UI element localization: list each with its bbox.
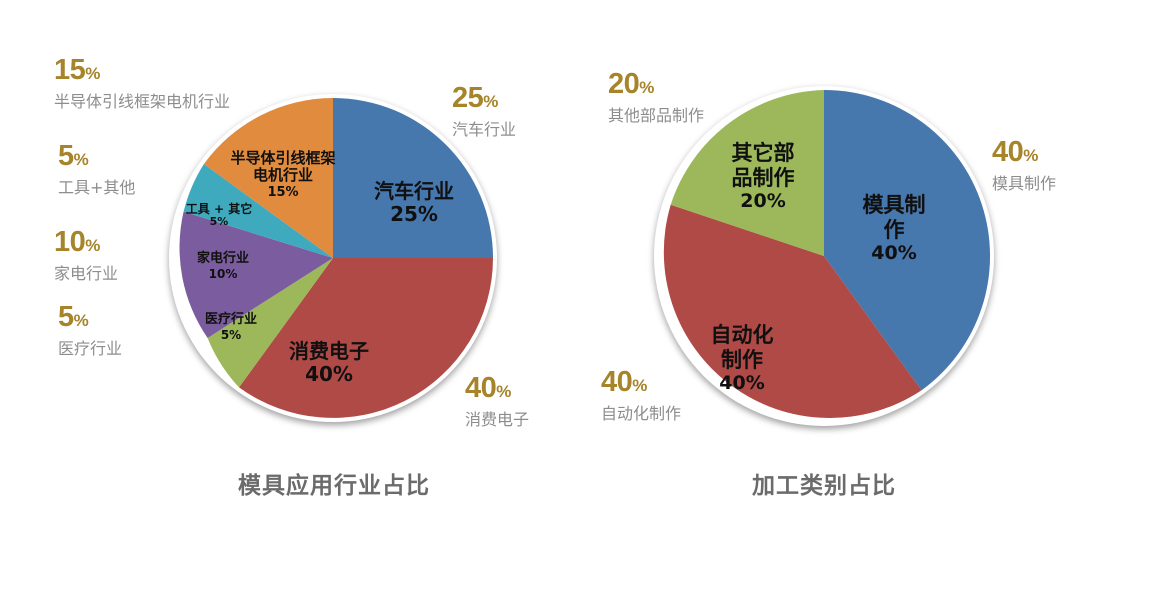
- callout-label: 家电行业: [54, 266, 118, 282]
- callout-tools-other: 5% 工具+其他: [58, 142, 135, 196]
- callout-percent: 5%: [58, 303, 122, 332]
- callout-mold-making: 40% 模具制作: [992, 138, 1056, 192]
- callout-percent: 40%: [992, 138, 1056, 167]
- callout-label: 医疗行业: [58, 341, 122, 357]
- callout-label: 工具+其他: [58, 180, 135, 196]
- slice-automotive: [333, 98, 493, 258]
- callout-percent: 10%: [54, 228, 118, 257]
- callout-home-appliance: 10% 家电行业: [54, 228, 118, 282]
- charts-canvas: 15% 半导体引线框架电机行业 5% 工具+其他 10% 家电行业 5% 医疗行…: [0, 0, 1152, 590]
- callout-percent: 15%: [54, 56, 230, 85]
- pie-1-graphic: 汽车行业 25% 消费电子 40% 医疗行业 5% 家电行业 10% 工具 + …: [169, 94, 497, 422]
- pie-2-graphic: 模具制 作 40% 自动化 制作 40% 其它部 品制作 20%: [654, 86, 994, 426]
- callout-medical: 5% 医疗行业: [58, 303, 122, 357]
- callout-label: 模具制作: [992, 176, 1056, 192]
- callout-percent: 5%: [58, 142, 135, 171]
- pie-2-circle: [654, 86, 994, 426]
- chart-title-1: 模具应用行业占比: [176, 466, 492, 500]
- chart-title-2: 加工类别占比: [696, 466, 952, 500]
- pie-1-circle: [169, 94, 497, 422]
